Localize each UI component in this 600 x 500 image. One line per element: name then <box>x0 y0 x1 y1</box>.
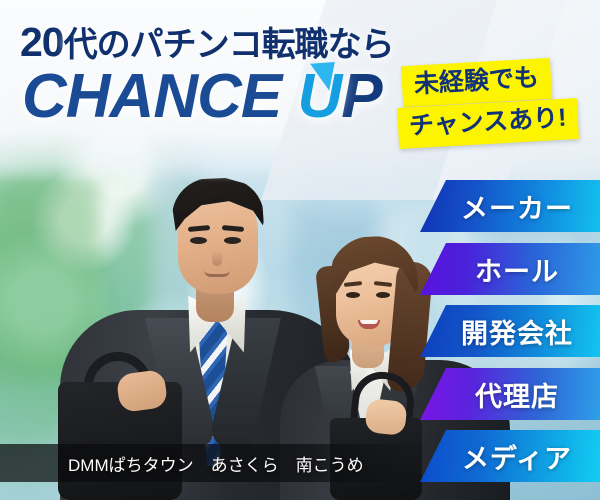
woman-eye-left <box>346 292 360 298</box>
page-title: 20代のパチンコ転職なら <box>20 17 394 66</box>
category-button-developer[interactable]: 開発会社 <box>420 305 600 357</box>
category-button-media[interactable]: メディア <box>420 430 600 482</box>
category-label: 開発会社 <box>447 312 573 351</box>
headline-text: 代のパチンコ転職なら <box>64 26 394 64</box>
woman-teeth <box>360 320 378 324</box>
man-nose <box>212 250 222 266</box>
credit-text: DMMぱちタウン あさくら 南こうめ <box>0 451 364 476</box>
credit-bar: DMMぱちタウン あさくら 南こうめ <box>0 444 430 482</box>
pachinko-job-banner: 20代のパチンコ転職なら CHANCE UP 未経験でも チャンスあり! メーカ… <box>0 0 600 500</box>
logo-letter-p: P <box>341 62 381 131</box>
logo-word-chance: CHANCE <box>22 62 281 131</box>
woman-hand <box>364 398 407 436</box>
category-label: メーカー <box>447 187 573 226</box>
category-button-agency[interactable]: 代理店 <box>420 368 600 420</box>
category-button-hall[interactable]: ホール <box>420 243 600 295</box>
man-mouth <box>204 270 230 277</box>
category-label: ホール <box>461 250 559 289</box>
category-label: メディア <box>448 437 572 476</box>
man-eye-left <box>190 237 207 244</box>
headline-number: 20 <box>20 19 64 65</box>
brand-logo: CHANCE UP <box>22 66 382 128</box>
man-eye-right <box>224 237 241 244</box>
category-label: 代理店 <box>461 375 559 414</box>
woman-eye-right <box>376 292 390 298</box>
logo-letter-u: U <box>297 66 341 128</box>
category-button-maker[interactable]: メーカー <box>420 180 600 232</box>
